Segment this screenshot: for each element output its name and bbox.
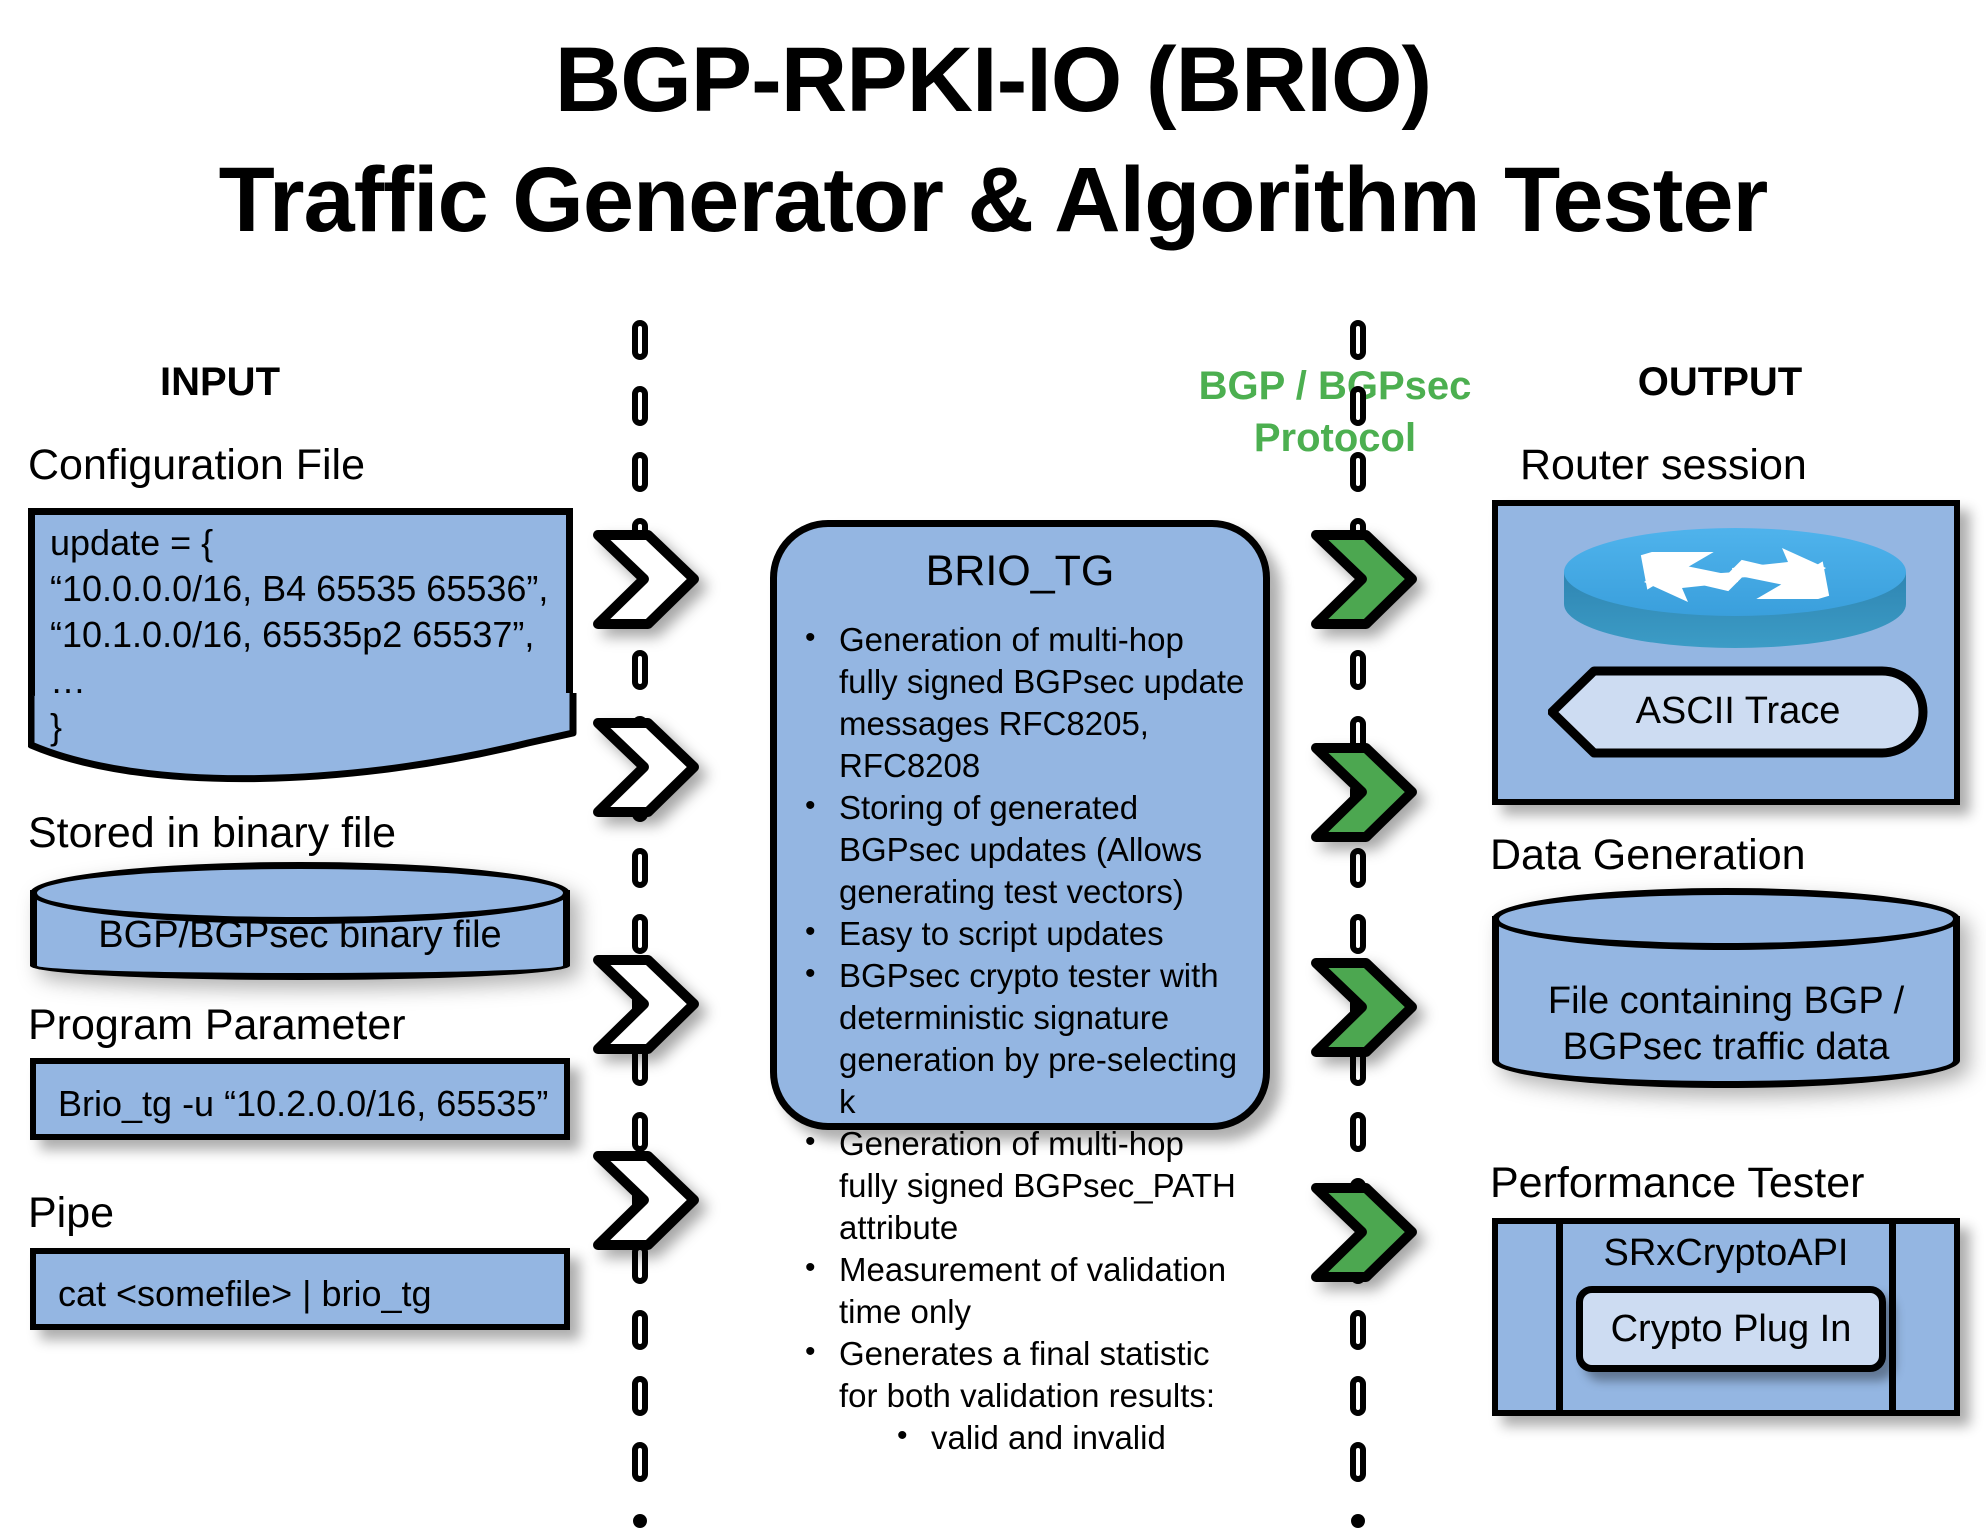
dash-segment bbox=[1350, 1376, 1366, 1416]
data-generation-label-line1: File containing BGP / bbox=[1492, 978, 1960, 1024]
dash-segment bbox=[632, 914, 648, 954]
chevron-right-green-icon-4 bbox=[1308, 1180, 1420, 1285]
crypto-plugin-label: Crypto Plug In bbox=[1611, 1308, 1852, 1351]
brio-tg-box: BRIO_TG Generation of multi-hop fully si… bbox=[770, 520, 1270, 1130]
feature-subitem: valid and invalid bbox=[929, 1417, 1251, 1459]
caption-pipe: Pipe bbox=[28, 1188, 114, 1238]
program-parameter-label: Brio_tg -u “10.2.0.0/16, 65535” bbox=[58, 1082, 548, 1126]
feature-list: Generation of multi-hop fully signed BGP… bbox=[795, 619, 1251, 1459]
chevron-right-outline-icon-3 bbox=[590, 952, 702, 1057]
config-line-3: … bbox=[50, 658, 570, 704]
dash-segment bbox=[632, 320, 648, 360]
data-generation-label-line2: BGPsec traffic data bbox=[1492, 1024, 1960, 1070]
caption-data-generation: Data Generation bbox=[1490, 830, 1806, 880]
configuration-file-text: update = { “10.0.0.0/16, B4 65535 65536”… bbox=[50, 520, 570, 750]
feature-item: Easy to script updates bbox=[837, 913, 1251, 955]
column-heading-output: OUTPUT bbox=[1560, 360, 1880, 405]
feature-item: Generation of multi-hop fully signed BGP… bbox=[837, 619, 1251, 787]
dash-segment bbox=[632, 386, 648, 426]
dash-segment bbox=[632, 1442, 648, 1482]
dashed-vertical-line-right bbox=[1350, 320, 1372, 1500]
ascii-trace-label: ASCII Trace bbox=[1548, 690, 1928, 733]
chevron-right-outline-icon-2 bbox=[590, 715, 702, 820]
dash-segment bbox=[1350, 386, 1366, 426]
feature-item: Generates a final statistic for both val… bbox=[837, 1333, 1251, 1417]
dash-segment bbox=[1350, 452, 1366, 492]
caption-configuration-file: Configuration File bbox=[28, 440, 365, 490]
dash-segment bbox=[632, 1376, 648, 1416]
dashed-vertical-line-left bbox=[632, 320, 654, 1500]
caption-stored-in-binary-file: Stored in binary file bbox=[28, 808, 396, 858]
dash-end-dot bbox=[1351, 1514, 1365, 1528]
page-title-line2: Traffic Generator & Algorithm Tester bbox=[0, 150, 1986, 250]
dash-segment bbox=[632, 848, 648, 888]
crypto-plugin-box: Crypto Plug In bbox=[1576, 1286, 1886, 1372]
dash-segment bbox=[1350, 320, 1366, 360]
router-session-card: ASCII Trace bbox=[1492, 500, 1960, 805]
pipe-box: cat <somefile> | brio_tg bbox=[30, 1248, 570, 1330]
dash-segment bbox=[1350, 914, 1366, 954]
chevron-right-green-icon-2 bbox=[1308, 740, 1420, 845]
chevron-right-green-icon-1 bbox=[1308, 527, 1420, 632]
dash-segment bbox=[1350, 1112, 1366, 1152]
dash-segment bbox=[632, 452, 648, 492]
chevron-right-green-icon-3 bbox=[1308, 955, 1420, 1060]
chevron-right-outline-icon-1 bbox=[590, 527, 702, 632]
diagram-canvas: BGP-RPKI-IO (BRIO) Traffic Generator & A… bbox=[0, 0, 1986, 1504]
brio-tg-feature-list: Generation of multi-hop fully signed BGP… bbox=[795, 619, 1251, 1459]
feature-item: Measurement of validation time only bbox=[837, 1249, 1251, 1333]
column-heading-protocol: BGP / BGPsec Protocol bbox=[1170, 360, 1500, 464]
data-generation-cylinder: File containing BGP / BGPsec traffic dat… bbox=[1492, 888, 1960, 1088]
srxcryptoapi-label: SRxCryptoAPI bbox=[1498, 1232, 1954, 1275]
caption-performance-tester: Performance Tester bbox=[1490, 1158, 1864, 1208]
feature-item: BGPsec crypto tester with deterministic … bbox=[837, 955, 1251, 1123]
program-parameter-box: Brio_tg -u “10.2.0.0/16, 65535” bbox=[30, 1058, 570, 1140]
config-line-2: “10.1.0.0/16, 65535p2 65537”, bbox=[50, 612, 570, 658]
binary-file-label: BGP/BGPsec binary file bbox=[30, 912, 570, 958]
router-icon bbox=[1560, 520, 1910, 655]
config-line-1: “10.0.0.0/16, B4 65535 65536”, bbox=[50, 566, 570, 612]
config-line-4: } bbox=[50, 704, 570, 750]
dash-end-dot bbox=[633, 1514, 647, 1528]
performance-tester-card: SRxCryptoAPI Crypto Plug In bbox=[1492, 1218, 1960, 1416]
dash-segment bbox=[1350, 1310, 1366, 1350]
page-title-line1: BGP-RPKI-IO (BRIO) bbox=[0, 30, 1986, 130]
cylinder-top bbox=[1492, 888, 1960, 950]
binary-file-cylinder: BGP/BGPsec binary file bbox=[30, 862, 570, 980]
dash-segment bbox=[632, 1310, 648, 1350]
config-line-0: update = { bbox=[50, 520, 570, 566]
caption-program-parameter: Program Parameter bbox=[28, 1000, 406, 1050]
dash-segment bbox=[1350, 848, 1366, 888]
dash-segment bbox=[632, 650, 648, 690]
configuration-file-document: update = { “10.0.0.0/16, B4 65535 65536”… bbox=[28, 508, 573, 708]
feature-item: Storing of generated BGPsec updates (All… bbox=[837, 787, 1251, 913]
feature-item: Generation of multi-hop fully signed BGP… bbox=[837, 1123, 1251, 1249]
brio-tg-title: BRIO_TG bbox=[777, 547, 1263, 596]
caption-router-session: Router session bbox=[1520, 440, 1807, 490]
dash-segment bbox=[632, 1112, 648, 1152]
pipe-label: cat <somefile> | brio_tg bbox=[58, 1272, 432, 1316]
dash-segment bbox=[1350, 650, 1366, 690]
dash-segment bbox=[1350, 1442, 1366, 1482]
column-heading-input: INPUT bbox=[60, 360, 380, 405]
chevron-right-outline-icon-4 bbox=[590, 1148, 702, 1253]
